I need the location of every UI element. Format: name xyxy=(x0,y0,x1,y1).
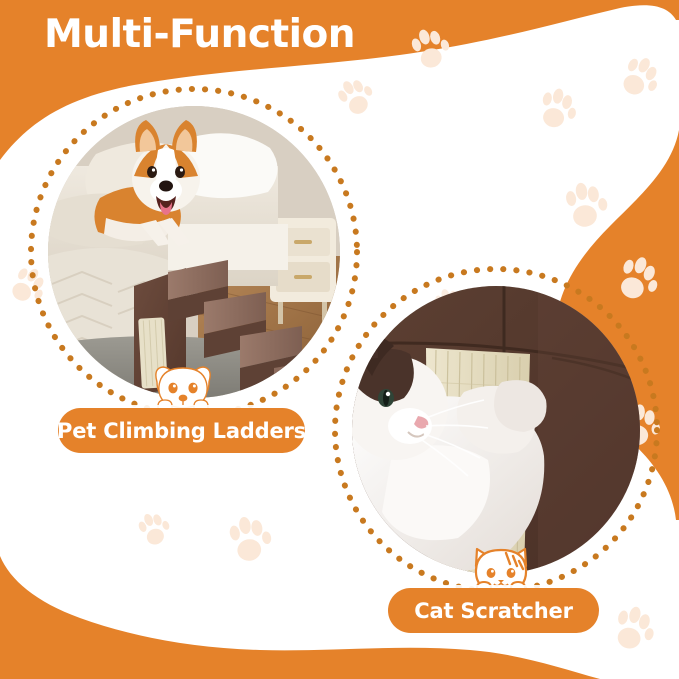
paw-print-icon xyxy=(616,56,660,102)
paw-print-icon xyxy=(408,28,452,74)
paw-print-icon xyxy=(136,512,172,550)
feature-photo-cat-scratcher xyxy=(352,286,640,574)
infographic-canvas: Multi-Function xyxy=(0,0,679,679)
paw-print-icon xyxy=(224,516,274,568)
feature-badge-label: Pet Climbing Ladders xyxy=(57,419,306,443)
paw-print-icon xyxy=(534,88,578,134)
feature-badge-pet-climbing-ladders[interactable]: Pet Climbing Ladders xyxy=(58,408,305,453)
paw-print-icon xyxy=(336,78,376,120)
page-title: Multi-Function xyxy=(44,12,355,57)
paw-print-icon xyxy=(560,182,610,234)
paw-print-icon xyxy=(6,266,46,308)
feature-photo-pet-climbing-ladders xyxy=(48,106,340,398)
feature-badge-cat-scratcher[interactable]: Cat Scratcher xyxy=(388,588,599,633)
paw-print-icon xyxy=(608,606,656,656)
feature-badge-label: Cat Scratcher xyxy=(414,599,572,623)
